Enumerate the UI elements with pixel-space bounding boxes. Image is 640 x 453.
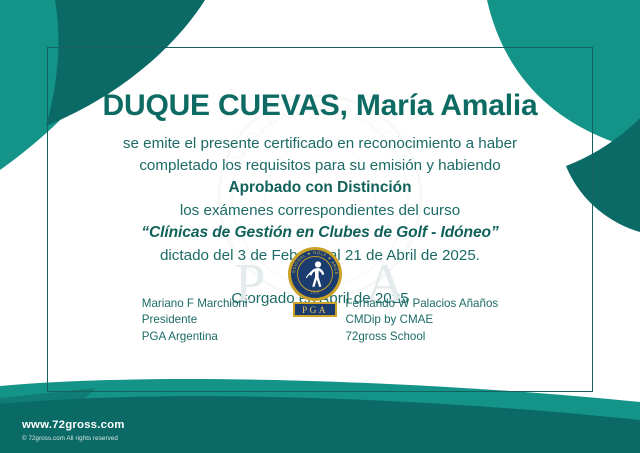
footer: www.72gross.com © 72gross.com All rights… xyxy=(22,419,125,442)
recipient-name: DUQUE CUEVAS, María Amalia xyxy=(47,47,593,122)
signature-right: Fernando W Palacios Añaños CMDip by CMAE… xyxy=(345,296,498,345)
svg-text:1926: 1926 xyxy=(311,291,321,295)
course-title: “Clínicas de Gestión en Clubes de Golf -… xyxy=(47,222,593,245)
signature-right-title: CMDip by CMAE xyxy=(345,312,498,328)
signature-right-name: Fernando W Palacios Añaños xyxy=(345,296,498,312)
footer-copyright: © 72gross.com All rights reserved xyxy=(22,435,125,442)
body-line-1: se emite el presente certificado en reco… xyxy=(47,133,593,155)
signature-right-org: 72gross School xyxy=(345,329,498,345)
distinction-line: Aprobado con Distinción xyxy=(47,177,593,199)
body-line-4: los exámenes correspondientes del curso xyxy=(47,200,593,222)
signature-left-title: Presidente xyxy=(142,312,248,328)
body-line-2: completado los requisitos para su emisió… xyxy=(47,155,593,177)
footer-website: www.72gross.com xyxy=(22,419,125,431)
signature-left-org: PGA Argentina xyxy=(142,329,248,345)
signature-block: Mariano F Marchioni Presidente PGA Argen… xyxy=(0,296,640,345)
signature-left-name: Mariano F Marchioni xyxy=(142,296,248,312)
certificate: PROFESSIONAL GOLF DUQUE CUEVAS, María Am… xyxy=(0,0,640,453)
signature-left: Mariano F Marchioni Presidente PGA Argen… xyxy=(142,296,248,345)
